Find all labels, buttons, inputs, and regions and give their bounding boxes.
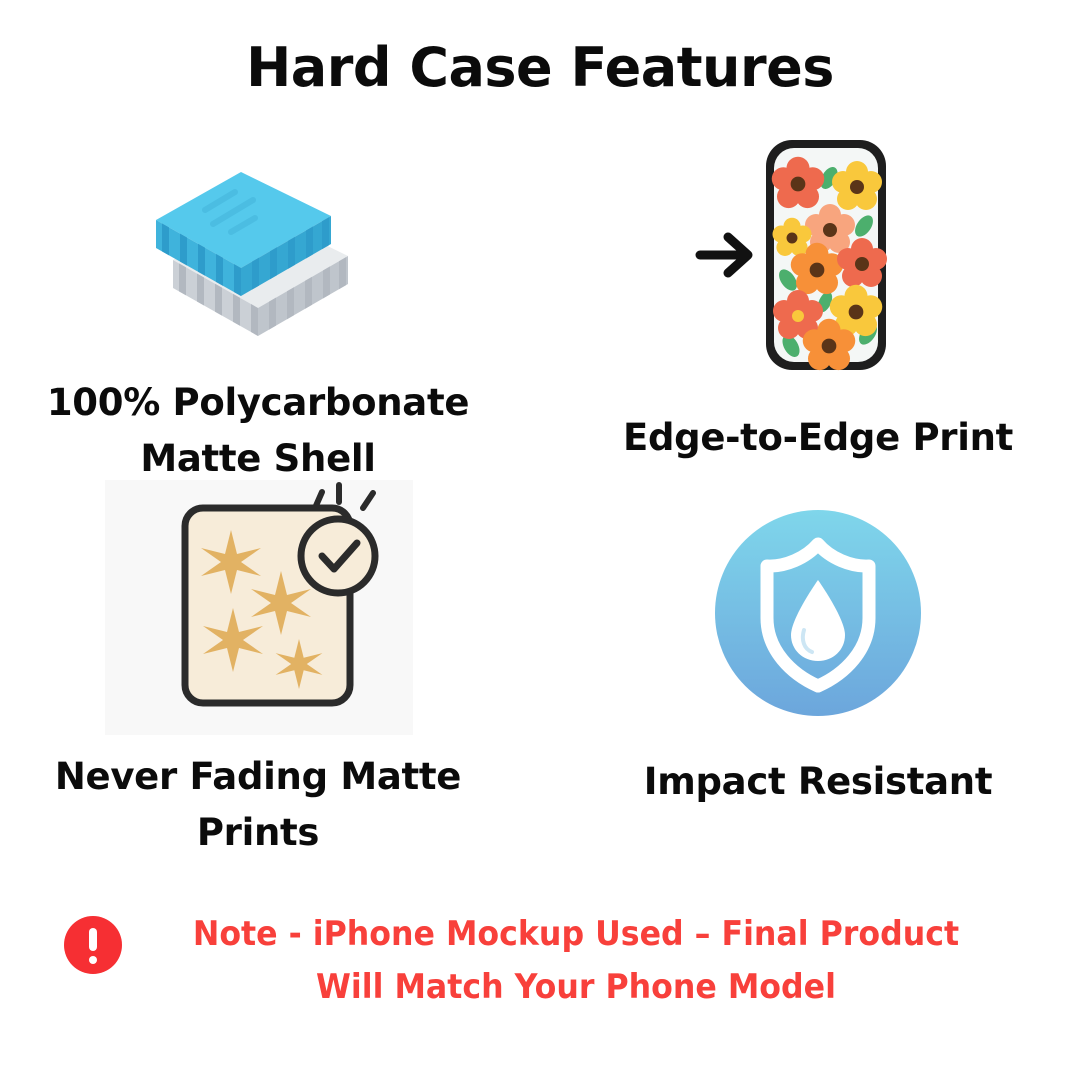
exclamation-badge-icon: [64, 916, 122, 974]
feature-caption-edge-print: Edge-to-Edge Print: [593, 410, 1043, 466]
feature-caption-polycarbonate: 100% Polycarbonate Matte Shell: [33, 375, 483, 486]
note-row: Note - iPhone Mockup Used – Final Produc…: [0, 908, 1080, 1013]
page-title: Hard Case Features: [0, 36, 1080, 99]
note-text: Note - iPhone Mockup Used – Final Produc…: [167, 908, 985, 1013]
feature-caption-impact: Impact Resistant: [593, 754, 1043, 810]
arrow-right-icon: [700, 237, 748, 273]
layered-slab-icon: [143, 170, 373, 355]
feature-caption-matte-prints: Never Fading Matte Prints: [33, 749, 483, 860]
floral-phone-case-svg: [688, 130, 948, 380]
feature-polycarbonate: 100% Polycarbonate Matte Shell: [33, 170, 483, 486]
sparkle-panel-check-icon: [123, 480, 393, 725]
feature-matte-prints: Never Fading Matte Prints: [33, 480, 483, 860]
check-badge-icon: [301, 485, 375, 593]
feature-impact: Impact Resistant: [593, 508, 1043, 810]
layered-slab-svg: [143, 170, 373, 355]
sparkle-panel-check-svg: [123, 480, 393, 725]
floral-phone-case-icon: [688, 130, 948, 380]
shield-droplet-icon: [713, 508, 923, 718]
shield-droplet-svg: [713, 508, 923, 718]
hard-case-features-graphic: Hard Case Features: [0, 0, 1080, 1080]
feature-edge-print: Edge-to-Edge Print: [593, 130, 1043, 466]
